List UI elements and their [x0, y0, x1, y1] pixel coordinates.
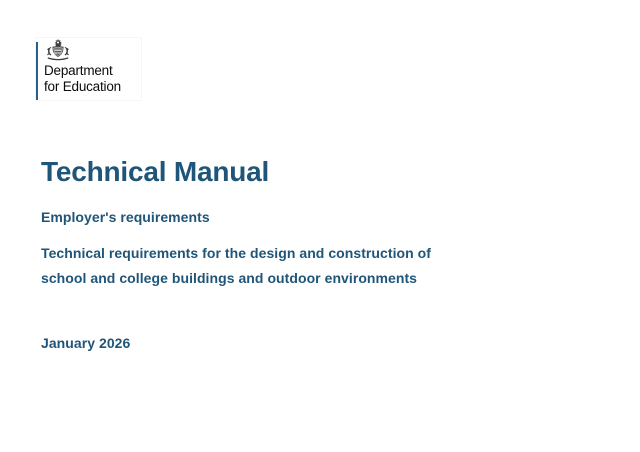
logo-wordmark: Department for Education: [44, 63, 121, 94]
cover-text-block: Technical Manual Employer's requirements…: [41, 155, 601, 353]
page-title: Technical Manual: [41, 155, 601, 189]
royal-coat-of-arms-icon: [44, 38, 72, 62]
document-subtitle: Employer's requirements: [41, 207, 601, 227]
document-description-line1: Technical requirements for the design an…: [41, 241, 571, 266]
document-date: January 2026: [41, 333, 601, 353]
dfe-logo: Department for Education: [36, 38, 141, 100]
document-description-line2: school and college buildings and outdoor…: [41, 266, 571, 291]
document-cover-page: Department for Education Technical Manua…: [0, 0, 640, 452]
logo-inner: Department for Education: [44, 38, 121, 94]
logo-wordmark-line1: Department: [44, 63, 121, 79]
logo-wordmark-line2: for Education: [44, 79, 121, 95]
logo-vertical-rule: [36, 42, 38, 100]
document-description: Technical requirements for the design an…: [41, 241, 571, 291]
